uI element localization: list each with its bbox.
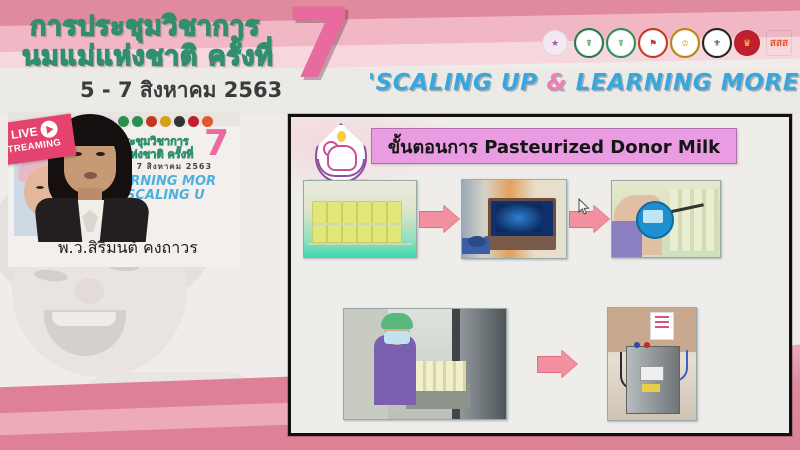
- photo-milk-bottles-rack: [303, 180, 417, 258]
- poster-edition-number: 7: [204, 126, 229, 162]
- department-health-logo: ☤: [606, 28, 636, 58]
- play-icon: [39, 120, 58, 139]
- conference-title-line2: นมแม่แห่งชาติ ครั้งที่: [22, 34, 273, 77]
- photo-laptop-workstation: [461, 179, 567, 259]
- tagline-ampersand: &: [546, 70, 567, 96]
- logo-wrap: ⚜: [702, 28, 728, 58]
- live-label: LIVE: [10, 124, 38, 142]
- speaker-name: พ.ว.สิริมนต์ คงถาวร: [58, 236, 198, 261]
- edition-number: 7: [286, 0, 353, 92]
- organization-logos: ★ ☤ ☤ ⚑ ♔ ⚜ ♛ สสส: [542, 28, 792, 58]
- slide-title-text: ขั้นตอนการ Pasteurized Donor Milk: [388, 132, 720, 161]
- logo-wrap: สสส: [766, 30, 792, 56]
- presentation-slide: THAI NATIONAL HUMAN MILK BANK ขั้นตอนการ…: [288, 114, 792, 436]
- logo-wrap: ♛: [734, 30, 760, 56]
- process-row-top: [303, 179, 781, 259]
- conference-date: 5 - 7 สิงหาคม 2563: [80, 74, 282, 107]
- tagline-part1: 'SCALING UP: [368, 70, 546, 96]
- photo-temperature-probe: [611, 180, 721, 258]
- nursing-council-logo: ⚜: [702, 28, 732, 58]
- screen: การประชุมวิชาการ นมแม่แห่งชาติ ครั้งที่ …: [0, 0, 800, 450]
- photo-pasteurizer-machine: [607, 307, 697, 421]
- thai-emblem-logo: ♔: [670, 28, 700, 58]
- ministry-public-health-logo: ☤: [574, 28, 604, 58]
- logo-wrap: ☤: [606, 28, 632, 58]
- conference-tagline: 'SCALING UP & LEARNING MORE': [368, 70, 800, 96]
- royal-patronage-logo: ★: [542, 30, 568, 56]
- royal-college-logo: ⚑: [638, 28, 668, 58]
- logo-wrap: ♔: [670, 28, 696, 58]
- process-row-bottom: [343, 307, 763, 421]
- process-arrow-1: [417, 204, 461, 234]
- logo-wrap: ☤: [574, 28, 600, 58]
- tagline-part2: LEARNING MORE': [567, 70, 800, 96]
- thaihealth-sss-logo: สสส: [766, 30, 792, 56]
- logo-wrap: ★: [542, 30, 568, 56]
- slide-title-banner: ขั้นตอนการ Pasteurized Donor Milk: [371, 128, 737, 164]
- process-arrow-2: [567, 204, 611, 234]
- logo-wrap: ⚑: [638, 28, 664, 58]
- photo-nurse-loading-pasteurizer: [343, 308, 507, 420]
- red-seal-logo: ♛: [734, 30, 760, 56]
- process-arrow-3: [535, 349, 579, 379]
